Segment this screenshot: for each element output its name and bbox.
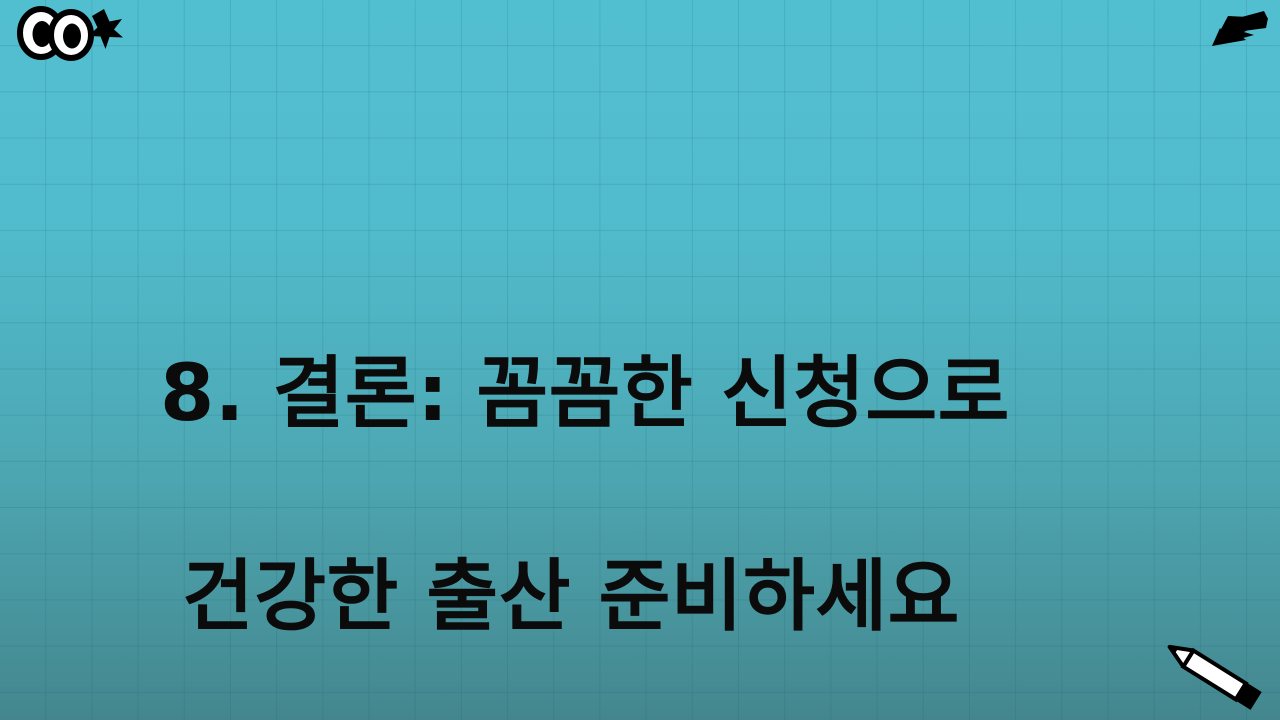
headline-line-1: 8. 결론: 꼼꼼한 신청으로	[160, 344, 1150, 445]
googly-eyes-star-icon	[8, 2, 128, 64]
headline-line-2: 건강한 출산 준비하세요	[182, 547, 1150, 648]
arrow-southwest-icon	[1202, 2, 1272, 58]
pencil-icon	[1154, 634, 1274, 714]
slide-canvas: 8. 결론: 꼼꼼한 신청으로 건강한 출산 준비하세요	[0, 0, 1280, 720]
page-title: 8. 결론: 꼼꼼한 신청으로 건강한 출산 준비하세요	[160, 243, 1150, 720]
